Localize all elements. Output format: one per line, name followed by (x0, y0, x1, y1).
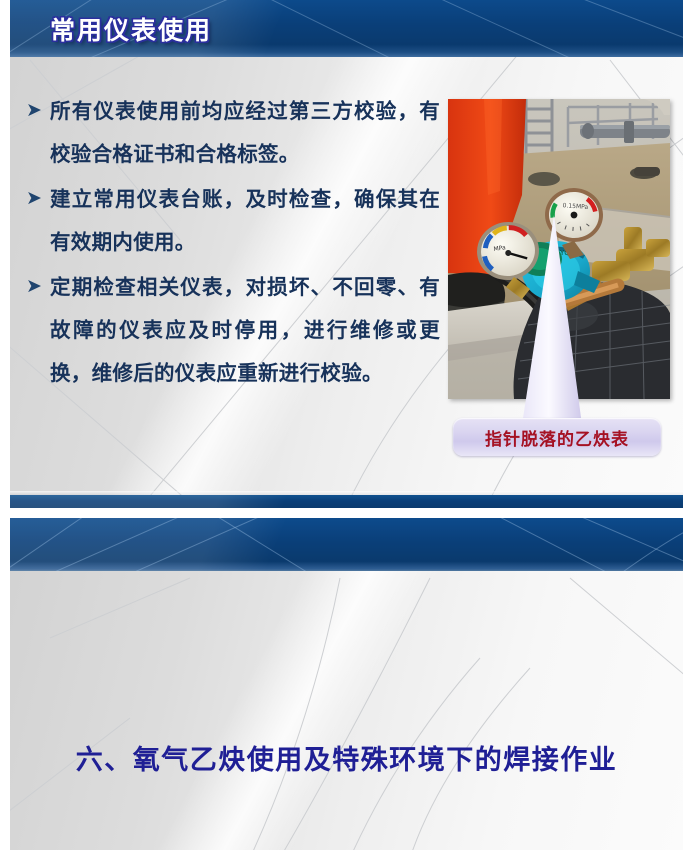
list-item: ➤ 定期检查相关仪表，对损坏、不回零、有故障的仪表应及时停用，进行维修或更换，维… (22, 266, 440, 395)
bullet-list: ➤ 所有仪表使用前均应经过第三方校验，有校验合格证书和合格标签。 ➤ 建立常用仪… (22, 90, 440, 397)
list-item: ➤ 建立常用仪表台账，及时检查，确保其在有效期内使用。 (22, 178, 440, 264)
photo-caption-callout: 指针脱落的乙炔表 (453, 418, 661, 456)
photo-canvas: YQY MPa (448, 99, 670, 399)
header-ribbon-pattern (10, 518, 683, 571)
gauge-inspection-photo: YQY MPa (448, 99, 670, 399)
bullet-text: 建立常用仪表台账，及时检查，确保其在有效期内使用。 (50, 178, 440, 264)
slide-2: 六、氧气乙炔使用及特殊环境下的焊接作业 (10, 518, 683, 850)
bullet-text: 所有仪表使用前均应经过第三方校验，有校验合格证书和合格标签。 (50, 90, 440, 176)
slide-1: 常用仪表使用 ➤ 所有仪表使用前均应经过第三方校验，有校验合格证书和合格标签。 … (10, 0, 683, 508)
arrow-bullet-icon: ➤ (22, 90, 50, 130)
section-title: 六、氧气乙炔使用及特殊环境下的焊接作业 (10, 738, 683, 777)
list-item: ➤ 所有仪表使用前均应经过第三方校验，有校验合格证书和合格标签。 (22, 90, 440, 176)
slide-1-footer-bar (10, 495, 683, 508)
caption-text: 指针脱落的乙炔表 (485, 425, 629, 450)
bullet-text: 定期检查相关仪表，对损坏、不回零、有故障的仪表应及时停用，进行维修或更换，维修后… (50, 266, 440, 395)
slide-1-header-bar: 常用仪表使用 (10, 0, 683, 57)
page-title: 常用仪表使用 (50, 11, 212, 47)
arrow-bullet-icon: ➤ (22, 266, 50, 306)
presentation-page: 常用仪表使用 ➤ 所有仪表使用前均应经过第三方校验，有校验合格证书和合格标签。 … (0, 0, 693, 850)
slide-2-header-bar (10, 518, 683, 571)
arrow-bullet-icon: ➤ (22, 178, 50, 218)
